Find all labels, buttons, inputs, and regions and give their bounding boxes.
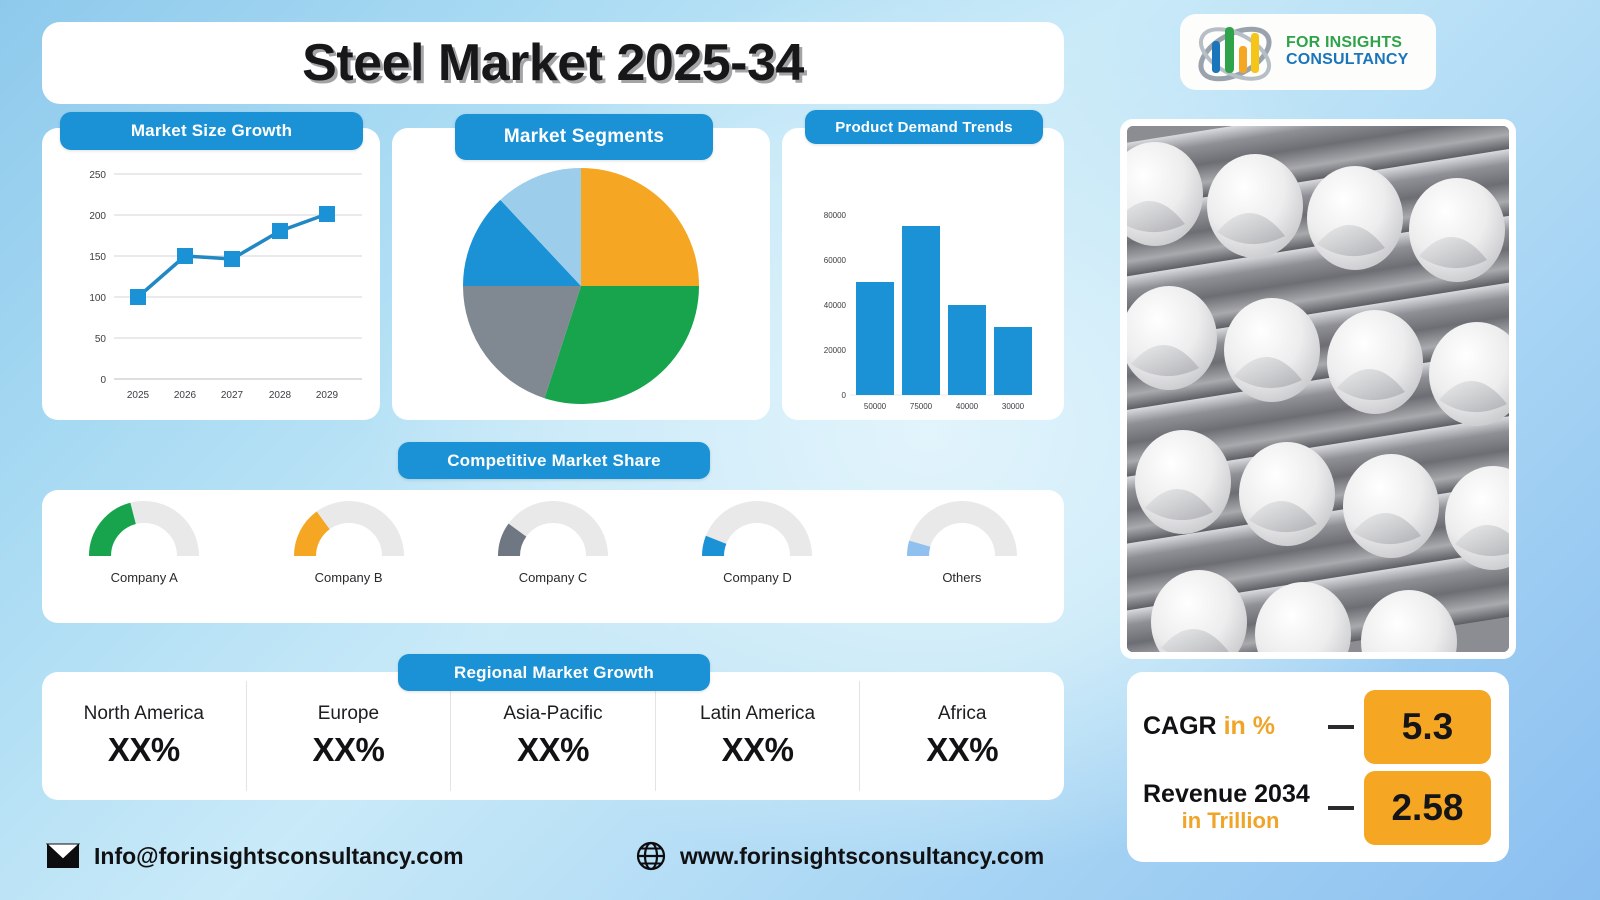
region-name: Africa bbox=[938, 703, 987, 725]
infographic-page: Steel Market 2025-34 250 200 150 100 50 … bbox=[0, 0, 1600, 900]
gauge-4: Company D bbox=[655, 500, 859, 585]
pie-chart bbox=[392, 128, 770, 420]
brand-logo-text: FOR INSIGHTS CONSULTANCY bbox=[1286, 35, 1409, 69]
line-chart-gridlines bbox=[114, 174, 362, 379]
cagr-dash-icon bbox=[1328, 725, 1354, 729]
gauge-list: Company ACompany BCompany CCompany DOthe… bbox=[42, 490, 1064, 623]
globe-icon bbox=[636, 841, 666, 871]
svg-text:100: 100 bbox=[89, 293, 106, 304]
gauge-arc bbox=[699, 500, 815, 566]
product-demand-trends-title: Product Demand Trends bbox=[805, 110, 1043, 144]
region-name: Asia-Pacific bbox=[503, 703, 602, 725]
steel-billets-photo bbox=[1127, 126, 1509, 652]
region-cell-5: AfricaXX% bbox=[859, 681, 1064, 791]
svg-text:80000: 80000 bbox=[824, 211, 847, 220]
region-value: XX% bbox=[312, 731, 384, 769]
competitive-market-share-title: Competitive Market Share bbox=[398, 442, 710, 479]
stat-row-revenue: Revenue 2034 in Trillion 2.58 bbox=[1143, 771, 1491, 845]
svg-text:150: 150 bbox=[89, 252, 106, 263]
region-name: North America bbox=[84, 703, 204, 725]
revenue-label-main: Revenue 2034 bbox=[1143, 781, 1318, 809]
gauge-3: Company C bbox=[451, 500, 655, 585]
market-size-growth-card: 250 200 150 100 50 0 2025 2026 2027 2028 bbox=[42, 128, 380, 420]
gauge-5: Others bbox=[860, 500, 1064, 585]
gauge-label: Company C bbox=[519, 570, 588, 585]
gauge-arc bbox=[291, 500, 407, 566]
region-value: XX% bbox=[108, 731, 180, 769]
gauge-fill bbox=[918, 544, 920, 556]
logo-line-1: FOR INSIGHTS bbox=[1286, 35, 1409, 52]
region-value: XX% bbox=[517, 731, 589, 769]
svg-text:50: 50 bbox=[95, 334, 107, 345]
cagr-label-main: CAGR bbox=[1143, 712, 1217, 740]
gauge-label: Company D bbox=[723, 570, 792, 585]
svg-text:40000: 40000 bbox=[824, 301, 847, 310]
footer-email-text: Info@forinsightsconsultancy.com bbox=[94, 843, 464, 870]
footer: Info@forinsightsconsultancy.com www.fori… bbox=[46, 832, 1076, 880]
bar-2 bbox=[902, 226, 940, 395]
gauge-label: Company A bbox=[111, 570, 178, 585]
region-name: Latin America bbox=[700, 703, 815, 725]
region-name: Europe bbox=[318, 703, 379, 725]
market-segments-title: Market Segments bbox=[455, 114, 713, 160]
svg-text:40000: 40000 bbox=[956, 402, 979, 411]
line-chart-ytick-labels: 250 200 150 100 50 0 bbox=[89, 170, 106, 386]
gauge-2: Company B bbox=[246, 500, 450, 585]
svg-text:60000: 60000 bbox=[824, 256, 847, 265]
bar-chart-xtick-labels: 50000 75000 40000 30000 bbox=[864, 402, 1025, 411]
region-cell-2: EuropeXX% bbox=[246, 681, 451, 791]
bar-1 bbox=[856, 282, 894, 395]
region-cell-1: North AmericaXX% bbox=[42, 681, 246, 791]
gauge-arc bbox=[86, 500, 202, 566]
region-cell-4: Latin AmericaXX% bbox=[655, 681, 860, 791]
cagr-label: CAGR in % bbox=[1143, 713, 1318, 741]
svg-text:30000: 30000 bbox=[1002, 402, 1025, 411]
footer-email[interactable]: Info@forinsightsconsultancy.com bbox=[46, 843, 636, 870]
svg-text:0: 0 bbox=[842, 391, 847, 400]
revenue-dash-icon bbox=[1328, 806, 1354, 810]
logo-line-2: CONSULTANCY bbox=[1286, 52, 1409, 69]
gauge-track bbox=[713, 512, 801, 556]
gauge-fill bbox=[100, 513, 133, 556]
cagr-label-sub: in % bbox=[1224, 712, 1275, 740]
svg-text:50000: 50000 bbox=[864, 402, 887, 411]
svg-text:2027: 2027 bbox=[221, 390, 244, 401]
footer-website[interactable]: www.forinsightsconsultancy.com bbox=[636, 841, 1044, 871]
envelope-icon bbox=[46, 843, 80, 869]
region-cell-3: Asia-PacificXX% bbox=[450, 681, 655, 791]
bar-3 bbox=[948, 305, 986, 395]
line-chart: 250 200 150 100 50 0 2025 2026 2027 2028 bbox=[42, 128, 380, 420]
market-size-growth-title: Market Size Growth bbox=[60, 112, 363, 150]
gauge-track bbox=[918, 512, 1006, 556]
key-stats-card: CAGR in % 5.3 Revenue 2034 in Trillion 2… bbox=[1127, 672, 1509, 862]
gauge-fill bbox=[305, 520, 323, 556]
bar-chart-bars bbox=[856, 226, 1032, 395]
svg-text:20000: 20000 bbox=[824, 346, 847, 355]
bar-chart-orbit-logo-icon bbox=[1192, 21, 1278, 83]
svg-text:2026: 2026 bbox=[174, 390, 197, 401]
regional-market-growth-card: North AmericaXX%EuropeXX%Asia-PacificXX%… bbox=[42, 672, 1064, 800]
gauge-arc bbox=[495, 500, 611, 566]
gauge-fill bbox=[713, 540, 716, 556]
line-chart-xtick-labels: 2025 2026 2027 2028 2029 bbox=[127, 390, 339, 401]
brand-logo-card[interactable]: FOR INSIGHTS CONSULTANCY bbox=[1180, 14, 1436, 90]
gauge-arc bbox=[904, 500, 1020, 566]
svg-text:75000: 75000 bbox=[910, 402, 933, 411]
svg-text:200: 200 bbox=[89, 211, 106, 222]
bar-4 bbox=[994, 327, 1032, 395]
gauge-fill bbox=[509, 530, 517, 556]
page-title: Steel Market 2025-34 bbox=[302, 33, 804, 93]
title-card: Steel Market 2025-34 bbox=[42, 22, 1064, 104]
pie-slice-1 bbox=[581, 168, 699, 286]
gauge-label: Others bbox=[942, 570, 981, 585]
competitive-market-share-card: Company ACompany BCompany CCompany DOthe… bbox=[42, 490, 1064, 623]
revenue-label: Revenue 2034 in Trillion bbox=[1143, 781, 1318, 835]
bar-chart: 80000 60000 40000 20000 0 50000 75000 40… bbox=[782, 128, 1064, 420]
revenue-value: 2.58 bbox=[1364, 771, 1491, 845]
svg-text:2028: 2028 bbox=[269, 390, 292, 401]
footer-website-text: www.forinsightsconsultancy.com bbox=[680, 843, 1044, 870]
cagr-value: 5.3 bbox=[1364, 690, 1491, 764]
svg-text:2025: 2025 bbox=[127, 390, 150, 401]
stat-row-cagr: CAGR in % 5.3 bbox=[1143, 690, 1491, 764]
svg-text:2029: 2029 bbox=[316, 390, 339, 401]
svg-text:250: 250 bbox=[89, 170, 106, 181]
svg-text:0: 0 bbox=[100, 375, 106, 386]
steel-billets-illustration bbox=[1127, 126, 1509, 652]
product-demand-trends-card: 80000 60000 40000 20000 0 50000 75000 40… bbox=[782, 128, 1064, 420]
gauge-1: Company A bbox=[42, 500, 246, 585]
bar-chart-ytick-labels: 80000 60000 40000 20000 0 bbox=[824, 211, 847, 400]
gauge-label: Company B bbox=[315, 570, 383, 585]
region-value: XX% bbox=[722, 731, 794, 769]
region-value: XX% bbox=[926, 731, 998, 769]
regional-market-growth-title: Regional Market Growth bbox=[398, 654, 710, 691]
revenue-label-sub: in Trillion bbox=[1143, 808, 1318, 834]
market-segments-card bbox=[392, 128, 770, 420]
region-list: North AmericaXX%EuropeXX%Asia-PacificXX%… bbox=[42, 672, 1064, 800]
